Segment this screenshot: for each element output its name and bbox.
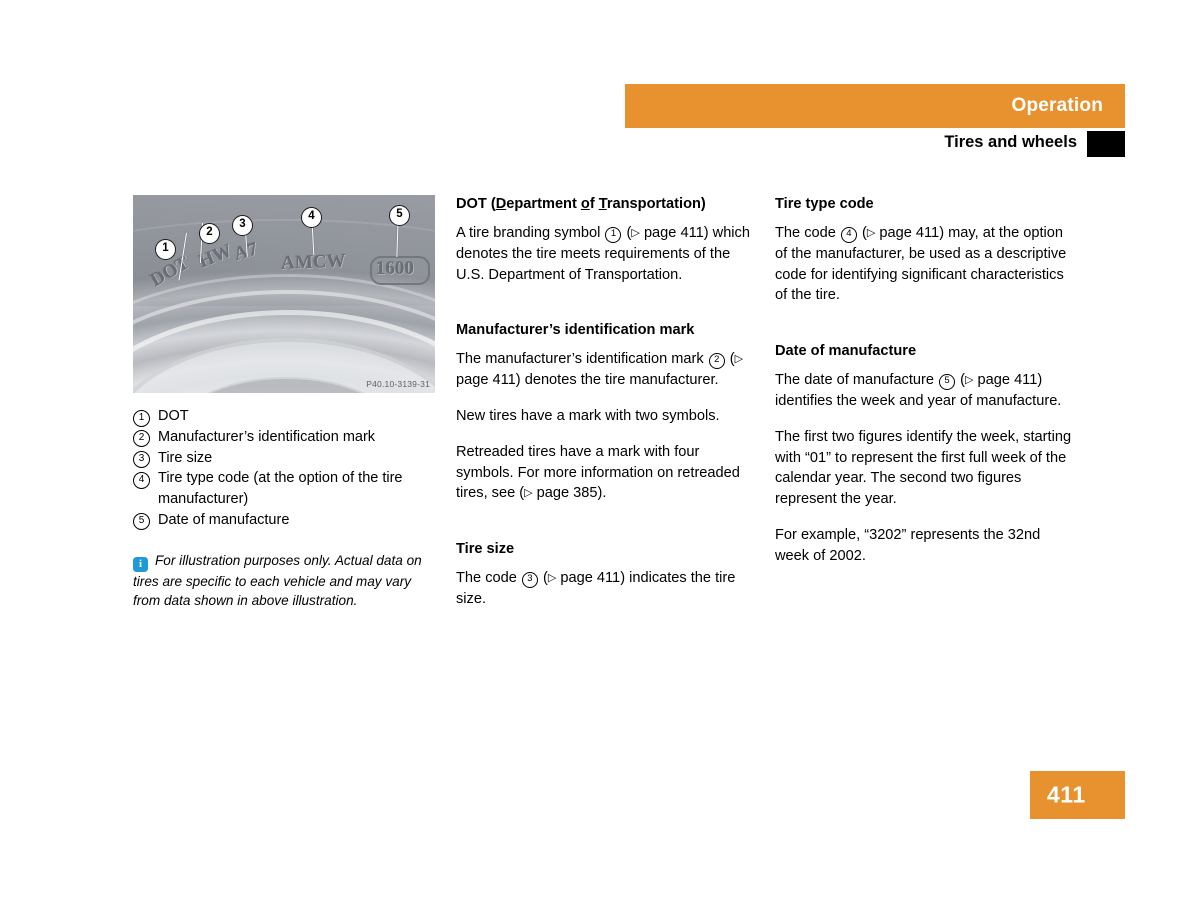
photo-callout-4: 4	[301, 207, 322, 228]
type-p1-text-a: The code	[775, 225, 836, 241]
section-heading-date-of-manufacture: Date of manufacture	[775, 342, 1077, 361]
dot-head-part-2: epartment	[506, 196, 581, 212]
page-number-block: 411	[1030, 771, 1125, 819]
section-heading-tire-type-code: Tire type code	[775, 195, 1077, 214]
inline-callout-2: 2	[709, 353, 725, 369]
size-p1-pageref[interactable]: page 411	[560, 570, 620, 586]
header-subtitle-row: Tires and wheels	[625, 131, 1125, 159]
section-heading-tire-size: Tire size	[456, 540, 758, 559]
page-number: 411	[1047, 782, 1086, 809]
inline-callout-3: 3	[522, 572, 538, 588]
cross-reference-arrow-icon: ▷	[735, 353, 743, 365]
dot-p1-pageref[interactable]: page 411	[644, 225, 704, 241]
legend-item: 3 Tire size	[133, 448, 435, 469]
legend-label-5: Date of manufacture	[158, 510, 435, 531]
inline-callout-4: 4	[841, 227, 857, 243]
dot-head-underline-o: o	[581, 196, 590, 212]
figure-image-code: P40.10-3139-31	[366, 379, 430, 389]
section-spacer	[456, 519, 758, 540]
section-heading-manufacturer: Manufacturer’s identification mark	[456, 321, 758, 340]
right-column: Tire type code The code 4 (▷ page 411) m…	[775, 195, 1077, 567]
type-p1-pageref[interactable]: page 411	[879, 225, 939, 241]
legend-label-1: DOT	[158, 406, 435, 427]
chapter-tab-marker	[1087, 131, 1125, 157]
header-section-title: Operation	[1011, 95, 1103, 117]
header-accent-bar: Operation	[625, 84, 1125, 128]
legend-label-2: Manufacturer’s identification mark	[158, 427, 435, 448]
figure-legend-list: 1 DOT 2 Manufacturer’s identification ma…	[133, 406, 435, 531]
size-p1-text-a: The code	[456, 570, 517, 586]
dot-head-underline-t: T	[599, 196, 607, 212]
photo-callout-2: 2	[199, 223, 220, 244]
date-p1-pageref[interactable]: page 411	[978, 372, 1038, 388]
legend-item: 1 DOT	[133, 406, 435, 427]
dot-head-part-3: f	[590, 196, 599, 212]
section-heading-dot: DOT (Department of Transportation)	[456, 195, 758, 214]
left-column: DOT HW A7 AMCW 1600 1 2 3 4 5 P40.10-313…	[133, 195, 435, 611]
cross-reference-arrow-icon: ▷	[524, 487, 532, 499]
section-spacer	[775, 321, 1077, 342]
mfr-p1-text-a: The manufacturer’s identification mark	[456, 351, 704, 367]
tire-size-paragraph-1: The code 3 (▷ page 411) indicates the ti…	[456, 568, 758, 610]
photo-callout-5: 5	[389, 205, 410, 226]
mfr-p1-pageref[interactable]: page 411	[456, 372, 516, 388]
cross-reference-arrow-icon: ▷	[631, 227, 639, 239]
illustration-disclaimer-text: For illustration purposes only. Actual d…	[133, 553, 422, 609]
cross-reference-arrow-icon: ▷	[867, 227, 875, 239]
mfr-p3-text-b: ).	[598, 485, 607, 501]
date-of-manufacture-paragraph-2: The first two figures identify the week,…	[775, 427, 1077, 510]
photo-contour-band	[133, 219, 435, 352]
dot-head-part-1: DOT (	[456, 196, 496, 212]
legend-marker-3: 3	[133, 451, 150, 468]
middle-column: DOT (Department of Transportation) A tir…	[456, 195, 758, 610]
photo-callout-1: 1	[155, 239, 176, 260]
legend-label-3: Tire size	[158, 448, 435, 469]
tire-type-code-paragraph-1: The code 4 (▷ page 411) may, at the opti…	[775, 223, 1077, 306]
cross-reference-arrow-icon: ▷	[965, 374, 973, 386]
date-of-manufacture-paragraph-3: For example, “3202” represents the 32nd …	[775, 525, 1077, 567]
manufacturer-paragraph-1: The manufacturer’s identification mark 2…	[456, 349, 758, 391]
date-p1-text-a: The date of manufacture	[775, 372, 934, 388]
date-code-oval	[370, 256, 430, 285]
dot-head-underline-d: D	[496, 196, 507, 212]
dot-p1-text-a: A tire branding symbol	[456, 225, 600, 241]
legend-item: 4 Tire type code (at the option of the t…	[133, 468, 435, 510]
legend-marker-2: 2	[133, 430, 150, 447]
mfr-p3-pageref[interactable]: page 385	[537, 485, 598, 501]
mfr-p1-text-c: ) denotes the tire manufacturer.	[516, 372, 719, 388]
legend-marker-1: 1	[133, 410, 150, 427]
photo-callout-3: 3	[232, 215, 253, 236]
manufacturer-paragraph-3: Retreaded tires have a mark with four sy…	[456, 442, 758, 504]
photo-contour-band	[133, 290, 435, 393]
info-icon: i	[133, 557, 148, 572]
inline-callout-5: 5	[939, 374, 955, 390]
inline-callout-1: 1	[605, 227, 621, 243]
cross-reference-arrow-icon: ▷	[548, 572, 556, 584]
header-chapter-title: Tires and wheels	[944, 131, 1077, 153]
date-of-manufacture-paragraph-1: The date of manufacture 5 (▷ page 411) i…	[775, 370, 1077, 412]
legend-label-4: Tire type code (at the option of the tir…	[158, 468, 435, 510]
legend-marker-4: 4	[133, 472, 150, 489]
section-spacer	[456, 300, 758, 321]
dot-paragraph-1: A tire branding symbol 1 (▷ page 411) wh…	[456, 223, 758, 285]
tire-sidewall-photo: DOT HW A7 AMCW 1600 1 2 3 4 5 P40.10-313…	[133, 195, 435, 393]
dot-head-part-4: ransportation)	[607, 196, 706, 212]
photo-contour-band	[133, 274, 435, 393]
legend-item: 2 Manufacturer’s identification mark	[133, 427, 435, 448]
manufacturer-paragraph-2: New tires have a mark with two symbols.	[456, 406, 758, 427]
legend-item: 5 Date of manufacture	[133, 510, 435, 531]
legend-marker-5: 5	[133, 513, 150, 530]
illustration-disclaimer-note: iFor illustration purposes only. Actual …	[133, 551, 435, 611]
